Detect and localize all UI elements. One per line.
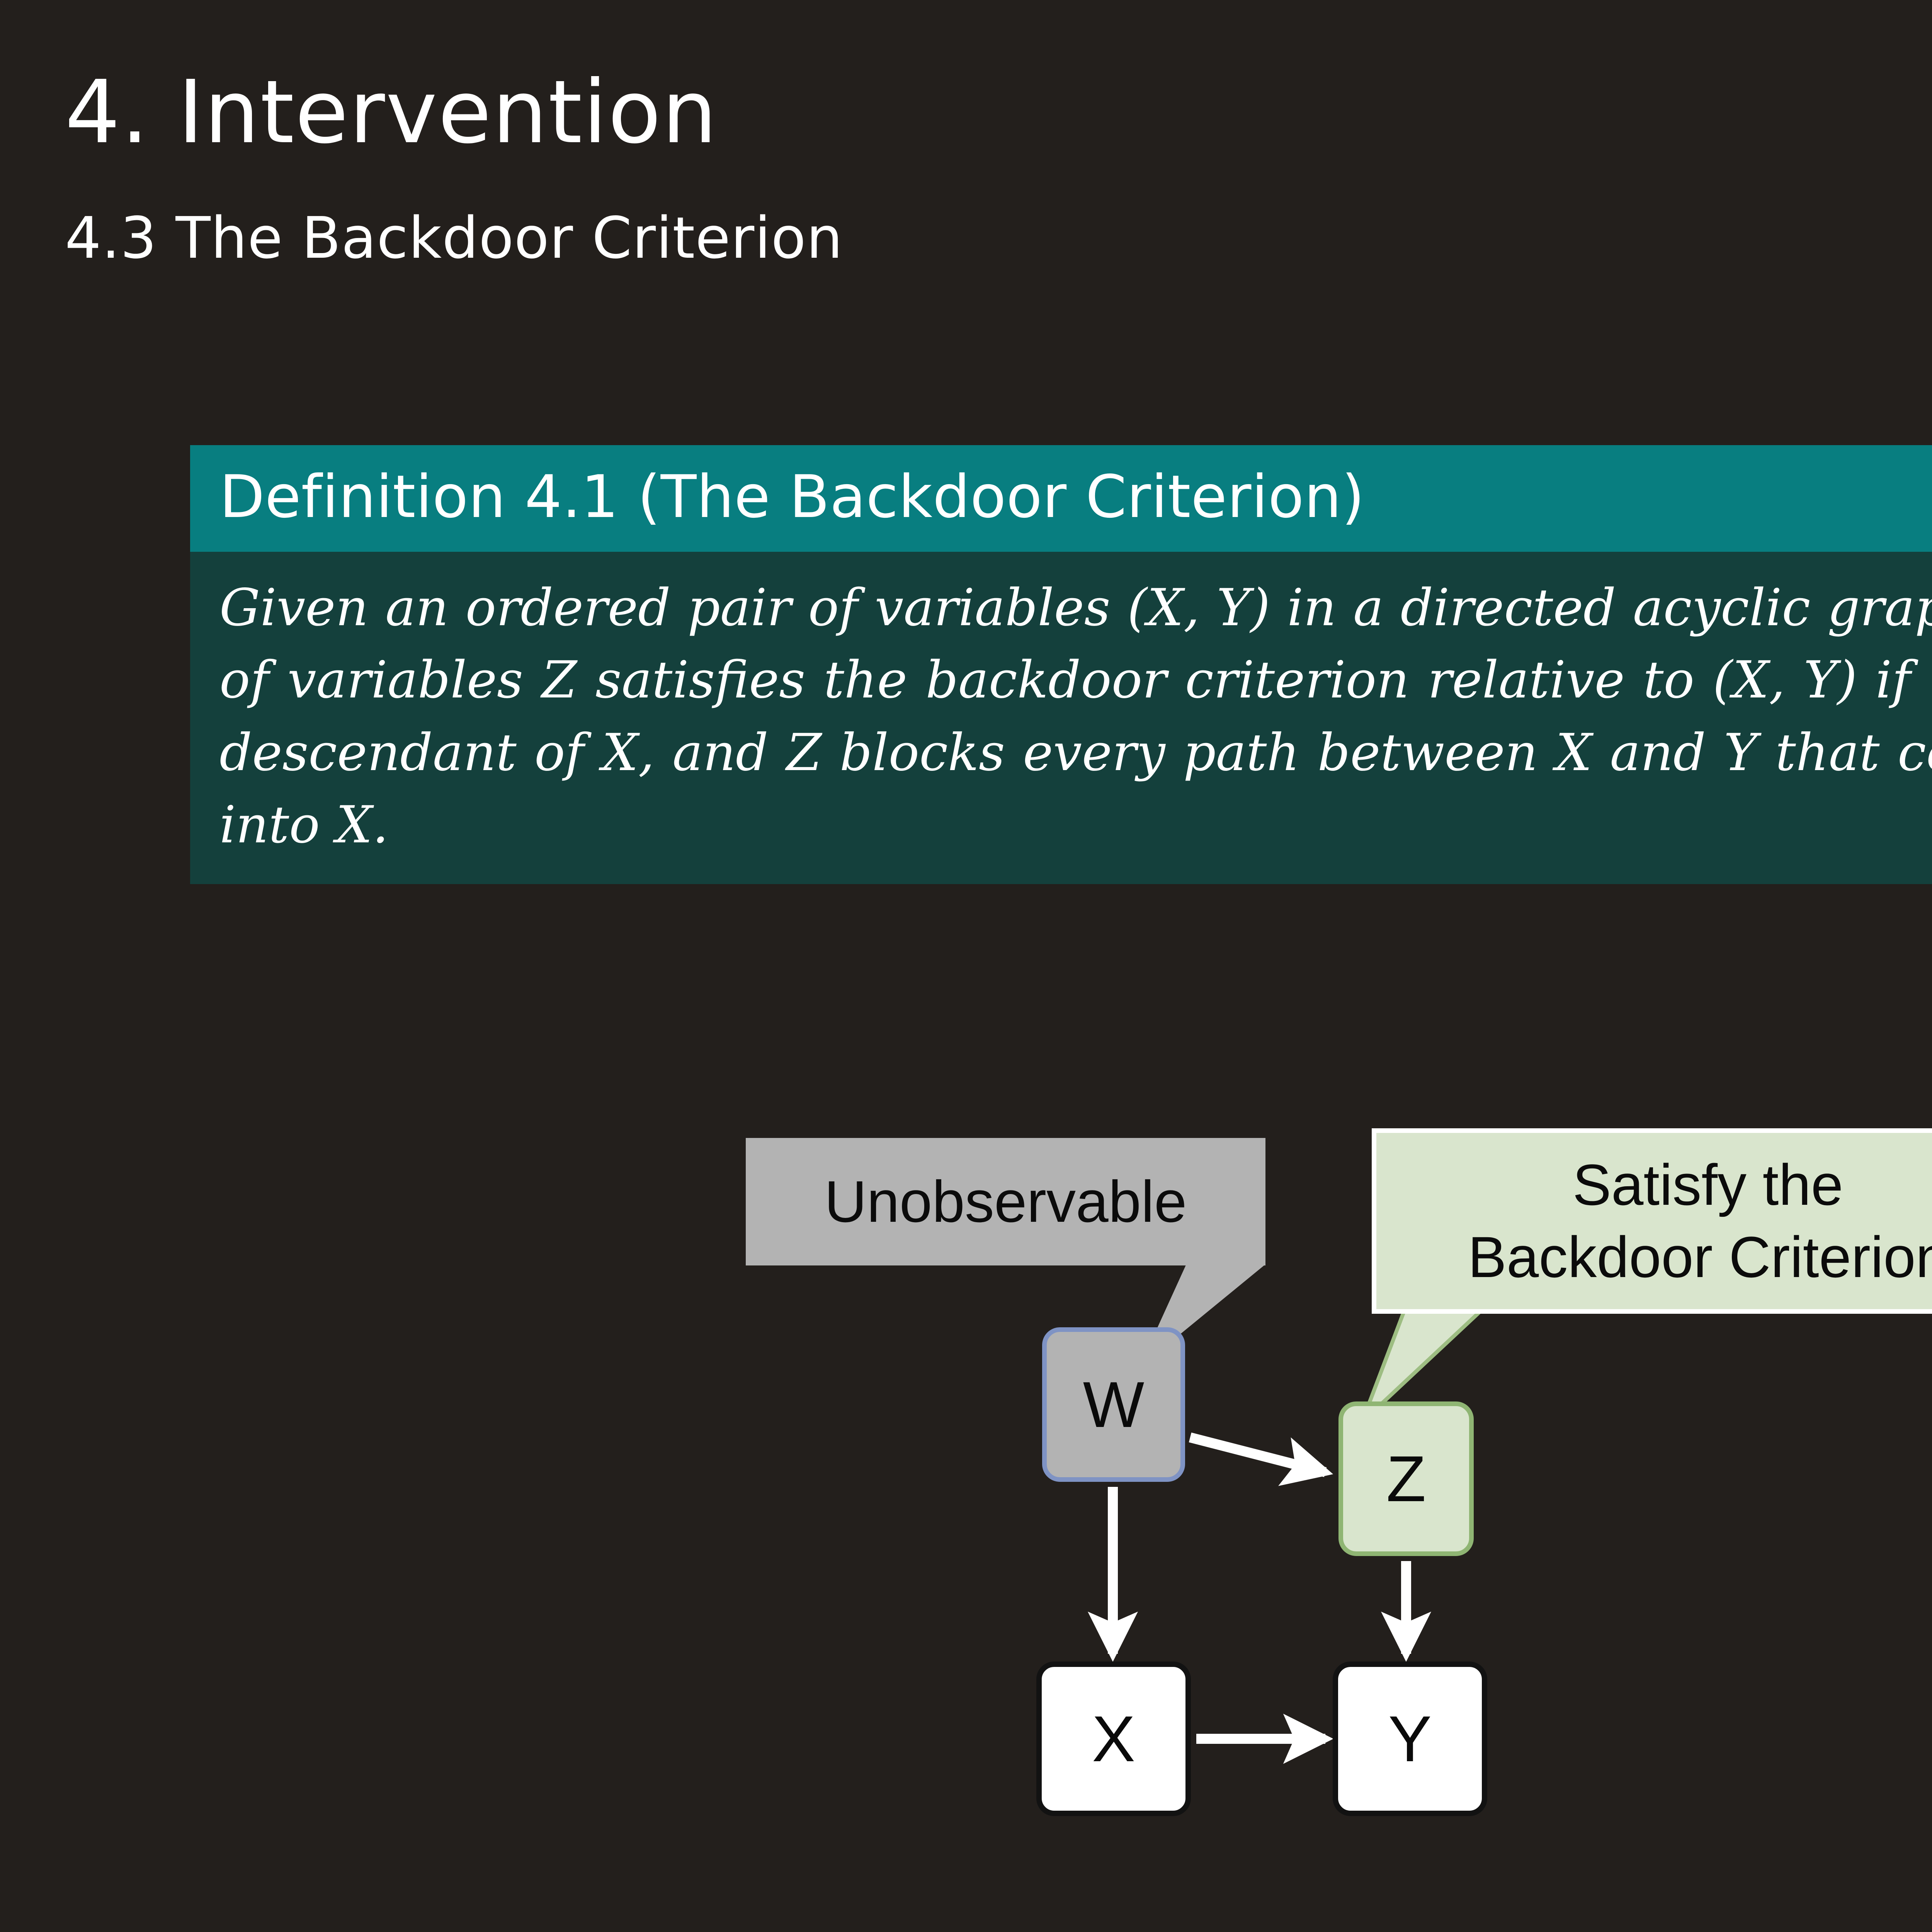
dag-node-x: X xyxy=(1036,1662,1191,1816)
causal-dag-diagram: Unobservable Satisfy the Backdoor Criter… xyxy=(746,1128,1932,1843)
callout-backdoor-line1: Satisfy the xyxy=(1573,1149,1843,1221)
dag-node-w-label: W xyxy=(1083,1367,1145,1442)
definition-title: Definition 4.1 (The Backdoor Criterion) xyxy=(190,445,1932,552)
callout-backdoor-line2: Backdoor Criterion xyxy=(1468,1221,1932,1294)
definition-text: Given an ordered pair of variables (X, Y… xyxy=(190,552,1932,884)
callout-unobservable: Unobservable xyxy=(746,1138,1265,1265)
dag-node-z-label: Z xyxy=(1386,1442,1426,1516)
dag-node-y-label: Y xyxy=(1388,1702,1432,1776)
dag-node-y: Y xyxy=(1333,1662,1487,1816)
page-title: 4. Intervention xyxy=(65,62,718,163)
edge-w-z xyxy=(1190,1437,1325,1472)
page-subtitle: 4.3 The Backdoor Criterion xyxy=(65,205,843,271)
definition-block: Definition 4.1 (The Backdoor Criterion) … xyxy=(190,445,1932,884)
callout-unobservable-label: Unobservable xyxy=(825,1168,1187,1236)
dag-node-x-label: X xyxy=(1092,1702,1135,1776)
dag-node-w: W xyxy=(1042,1327,1185,1482)
dag-node-z: Z xyxy=(1338,1401,1474,1556)
callout-backdoor: Satisfy the Backdoor Criterion xyxy=(1372,1128,1932,1314)
